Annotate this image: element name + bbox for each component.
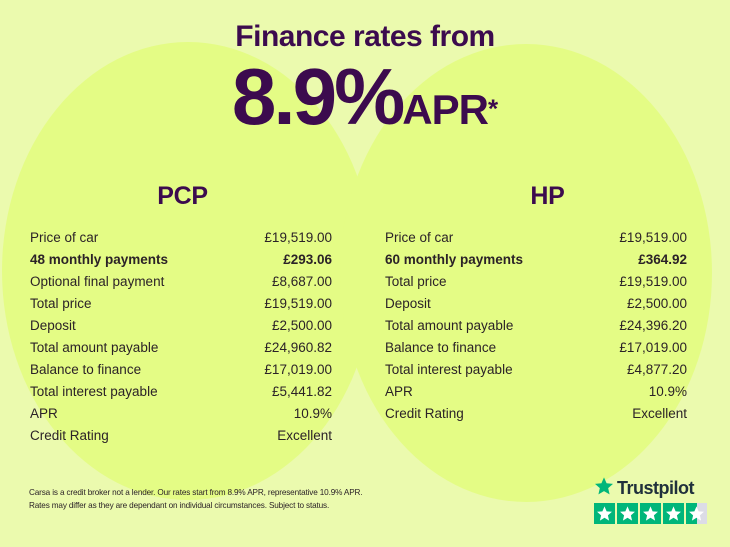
row-label: Optional final payment [30,271,164,293]
row-value: £5,441.82 [272,381,332,403]
disclaimer-line-2: Rates may differ as they are dependant o… [29,500,469,513]
header: Finance rates from 8.9%APR* [0,0,730,137]
row-label: Total price [385,271,447,293]
disclaimer-line-1: Carsa is a credit broker not a lender. O… [29,487,469,500]
row-label: Deposit [30,315,76,337]
row-value: Excellent [277,425,332,447]
plan-column-hp: HP Price of car £19,519.00 60 monthly pa… [365,182,730,447]
table-row: 48 monthly payments £293.06 [30,249,332,271]
row-label: Balance to finance [30,359,141,381]
table-row: Total amount payable £24,396.20 [385,315,687,337]
row-value: £19,519.00 [619,227,687,249]
rating-star-2 [617,503,638,524]
rate-suffix: APR [402,86,488,133]
row-label: Total amount payable [385,315,513,337]
table-row: Deposit £2,500.00 [385,293,687,315]
table-row: Total price £19,519.00 [30,293,332,315]
row-value: £17,019.00 [619,337,687,359]
page-title: Finance rates from [0,0,730,53]
rate-value: 8.9% [232,52,402,141]
table-row: Balance to finance £17,019.00 [385,337,687,359]
trustpilot-star-rating [594,503,712,524]
row-label: Credit Rating [385,403,464,425]
row-label: Total interest payable [385,359,513,381]
row-value: Excellent [632,403,687,425]
table-row: Total interest payable £5,441.82 [30,381,332,403]
table-row: APR 10.9% [30,403,332,425]
row-value: £8,687.00 [272,271,332,293]
row-label: APR [385,381,413,403]
row-label: Total amount payable [30,337,158,359]
row-value: £17,019.00 [264,359,332,381]
table-row: Deposit £2,500.00 [30,315,332,337]
disclaimer-text: Carsa is a credit broker not a lender. O… [29,487,469,512]
plan-title-hp: HP [365,182,730,211]
table-row: APR 10.9% [385,381,687,403]
trustpilot-rating[interactable]: Trustpilot [594,477,712,524]
row-value: 10.9% [649,381,687,403]
row-value: £19,519.00 [264,227,332,249]
plan-rows-pcp: Price of car £19,519.00 48 monthly payme… [0,227,365,447]
row-value: £364.92 [638,249,687,271]
finance-plan-comparison: PCP Price of car £19,519.00 48 monthly p… [0,182,730,447]
row-value: £4,877.20 [627,359,687,381]
row-value: £293.06 [283,249,332,271]
row-value: £24,396.20 [619,315,687,337]
table-row: Optional final payment £8,687.00 [30,271,332,293]
rating-star-5 [686,503,707,524]
row-label: Price of car [30,227,98,249]
trustpilot-brand-name: Trustpilot [617,479,694,497]
table-row: Balance to finance £17,019.00 [30,359,332,381]
plan-column-pcp: PCP Price of car £19,519.00 48 monthly p… [0,182,365,447]
star-icon [594,476,614,501]
plan-rows-hp: Price of car £19,519.00 60 monthly payme… [365,227,730,425]
table-row: 60 monthly payments £364.92 [385,249,687,271]
row-value: £19,519.00 [619,271,687,293]
table-row: Credit Rating Excellent [385,403,687,425]
row-label: Deposit [385,293,431,315]
table-row: Total interest payable £4,877.20 [385,359,687,381]
row-label: APR [30,403,58,425]
plan-title-pcp: PCP [0,182,365,211]
row-value: £24,960.82 [264,337,332,359]
trustpilot-wordmark: Trustpilot [594,477,712,499]
row-label: Credit Rating [30,425,109,447]
row-value: 10.9% [294,403,332,425]
table-row: Total amount payable £24,960.82 [30,337,332,359]
row-label: Total price [30,293,92,315]
rating-star-4 [663,503,684,524]
table-row: Price of car £19,519.00 [385,227,687,249]
row-value: £2,500.00 [272,315,332,337]
rating-star-3 [640,503,661,524]
finance-rates-promo-card: Finance rates from 8.9%APR* PCP Price of… [0,0,730,547]
row-label: 60 monthly payments [385,249,523,271]
row-value: £19,519.00 [264,293,332,315]
rate-asterisk: * [488,94,498,124]
headline-rate: 8.9%APR* [0,57,730,137]
table-row: Credit Rating Excellent [30,425,332,447]
row-label: Balance to finance [385,337,496,359]
table-row: Total price £19,519.00 [385,271,687,293]
footer: Carsa is a credit broker not a lender. O… [0,477,730,547]
row-label: 48 monthly payments [30,249,168,271]
row-value: £2,500.00 [627,293,687,315]
row-label: Total interest payable [30,381,158,403]
row-label: Price of car [385,227,453,249]
rating-star-1 [594,503,615,524]
table-row: Price of car £19,519.00 [30,227,332,249]
